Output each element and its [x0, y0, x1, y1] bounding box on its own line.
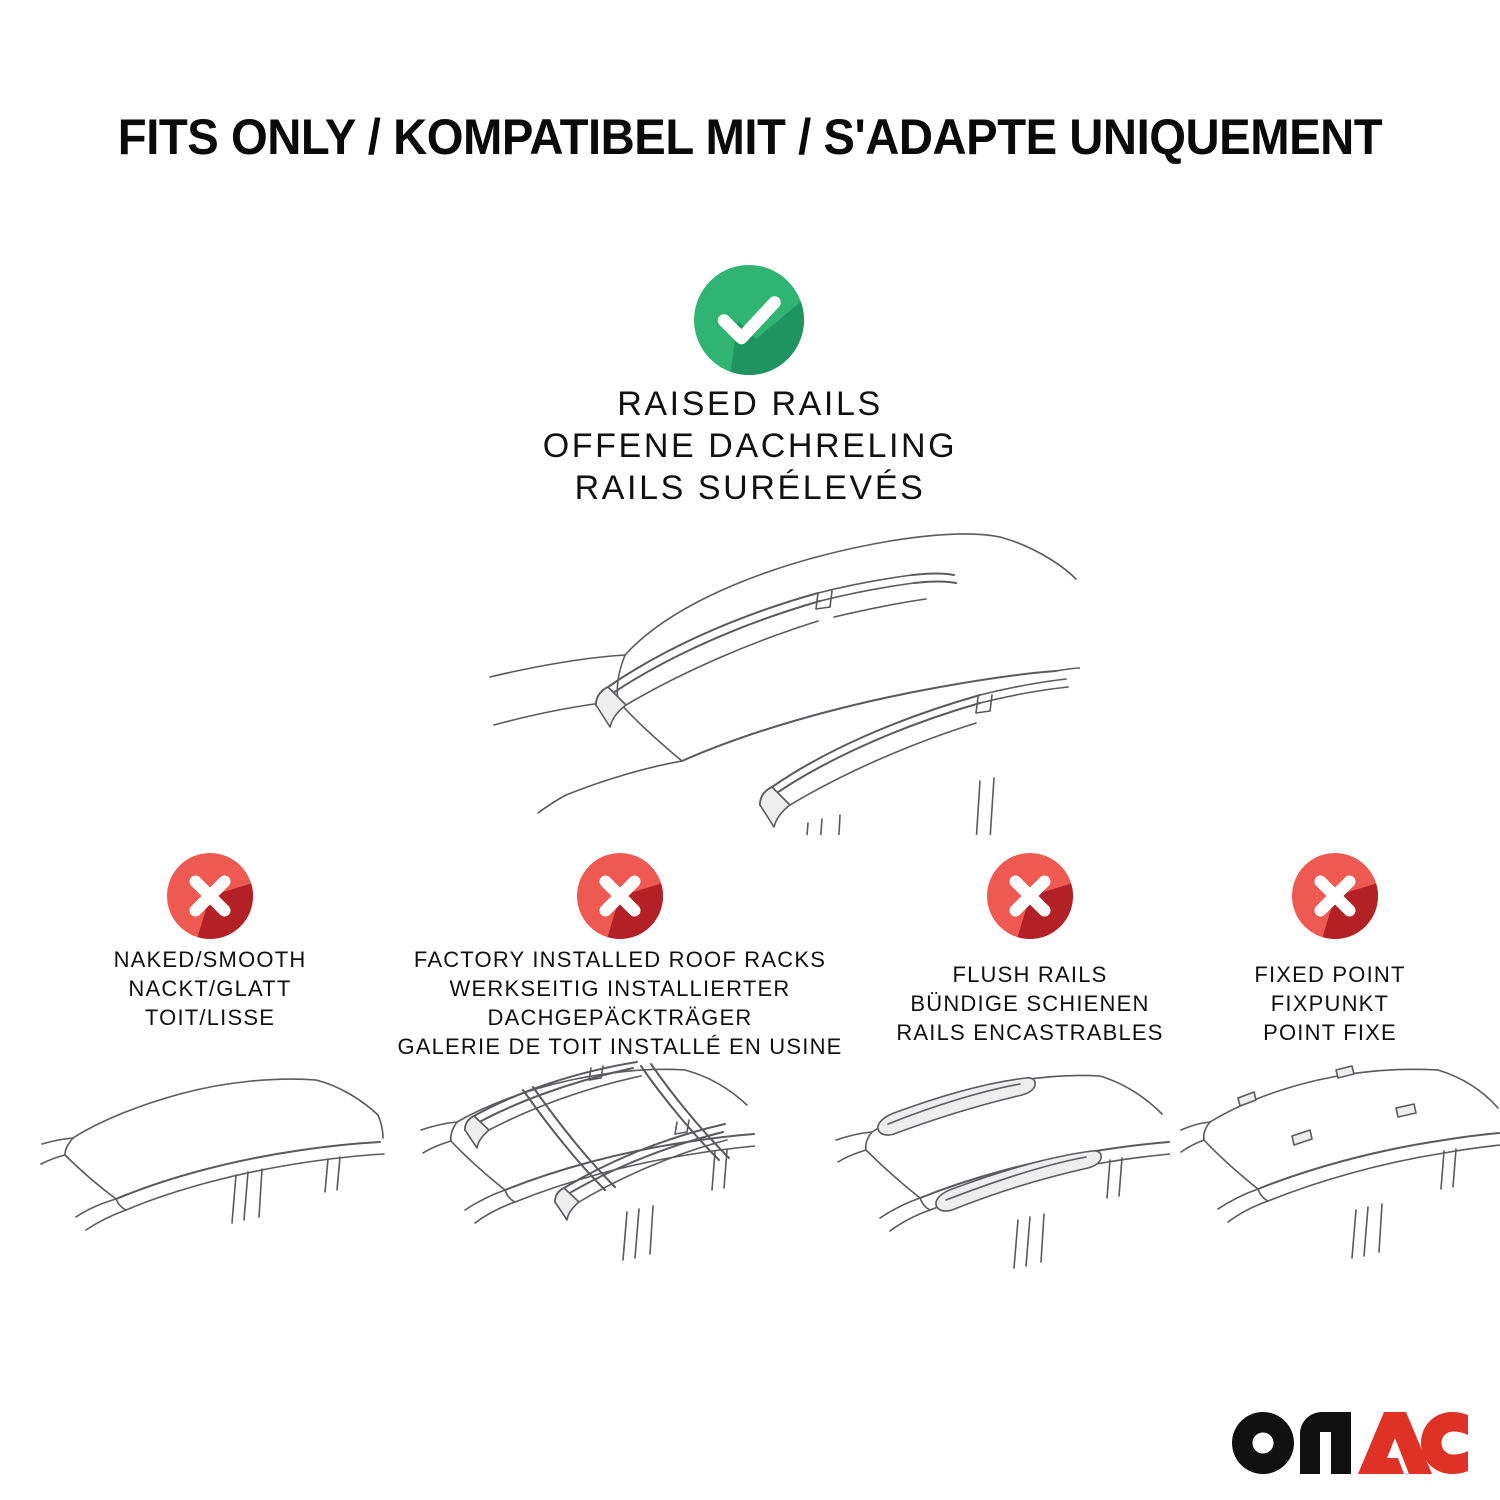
x-circle-icon [167, 853, 253, 939]
incompatible-2-line-1: FACTORY INSTALLED ROOF RACKS [390, 945, 850, 974]
car-roof-raised-rails-illustration [420, 505, 1080, 835]
compatible-line-1: RAISED RAILS [0, 383, 1500, 425]
compatible-line-3: RAILS SURÉLEVÉS [0, 467, 1500, 509]
incompatible-4-line-2: FIXPUNKT [1175, 989, 1485, 1018]
car-roof-flush-rails-illustration [820, 1060, 1170, 1295]
car-roof-fixed-point-illustration [1180, 1060, 1500, 1295]
x-circle-icon [1292, 853, 1378, 939]
x-circle-icon [987, 853, 1073, 939]
incompatible-2-line-4: GALERIE DE TOIT INSTALLÉ EN USINE [390, 1032, 850, 1061]
check-circle-icon [694, 265, 804, 375]
x-circle-icon [577, 853, 663, 939]
car-roof-bare-illustration [40, 1060, 385, 1295]
compatible-line-2: OFFENE DACHRELING [0, 425, 1500, 467]
incompatible-3-line-1: FLUSH RAILS [850, 960, 1210, 989]
incompatible-3-line-2: BÜNDIGE SCHIENEN [850, 989, 1210, 1018]
omac-logo [1232, 1412, 1468, 1474]
incompatible-4-line-3: POINT FIXE [1175, 1018, 1485, 1047]
incompatible-1-line-3: TOIT/LISSE [30, 1003, 390, 1032]
incompatible-1-line-2: NACKT/GLATT [30, 974, 390, 1003]
car-roof-factory-rack-illustration [405, 1060, 755, 1295]
incompatible-4-line-1: FIXED POINT [1175, 960, 1485, 989]
incompatible-3-line-3: RAILS ENCASTRABLES [850, 1018, 1210, 1047]
incompatible-2-line-3: DACHGEPÄCKTRÄGER [390, 1003, 850, 1032]
incompatible-2-line-2: WERKSEITIG INSTALLIERTER [390, 974, 850, 1003]
incompatible-1-line-1: NAKED/SMOOTH [30, 945, 390, 974]
page-title: FITS ONLY / KOMPATIBEL MIT / S'ADAPTE UN… [41, 108, 1459, 166]
